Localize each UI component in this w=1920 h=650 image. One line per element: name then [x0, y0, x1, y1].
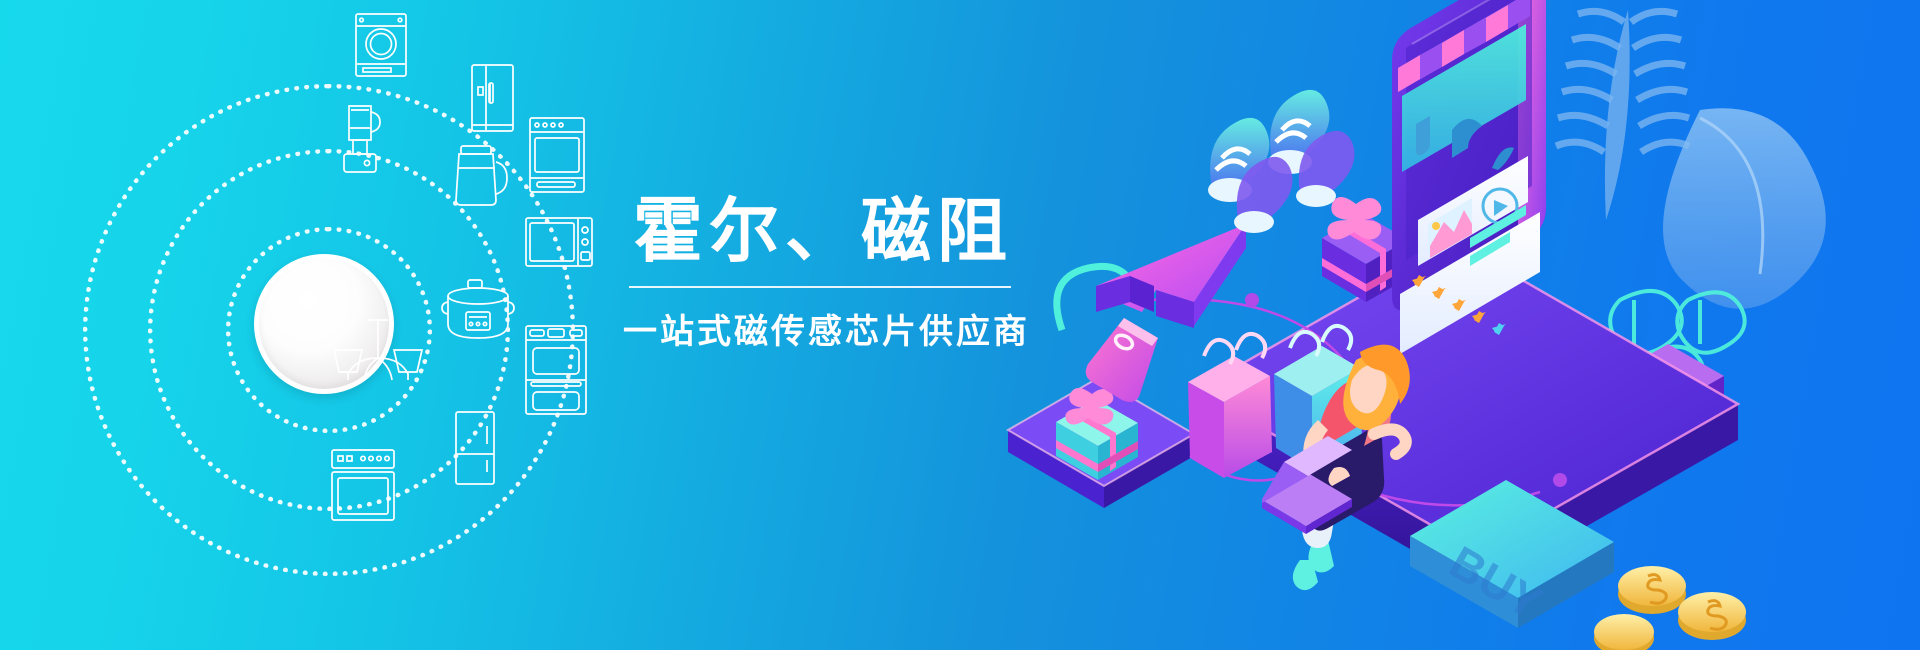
chandelier-icon [326, 318, 430, 394]
title-divider [629, 286, 1011, 288]
electric-kettle-icon [452, 140, 510, 212]
oven-range-icon [528, 116, 586, 194]
page-subtitle: 一站式磁传感芯片供应商 [620, 304, 1020, 353]
left-graphic [58, 0, 618, 650]
fridge-freezer-icon [454, 410, 496, 486]
rice-cooker-icon [440, 278, 516, 346]
blender-icon [342, 102, 384, 174]
page-title: 霍尔、磁阻 [620, 196, 1020, 266]
headline-block: 霍尔、磁阻 一站式磁传感芯片供应商 [620, 196, 1020, 353]
washing-machine-icon [354, 12, 408, 78]
refrigerator-side-by-side-icon [470, 63, 515, 133]
ecommerce-illustration: BUY [1000, 0, 1920, 650]
plant-leaves [1556, 10, 1826, 309]
microwave-oven-icon [524, 216, 594, 268]
double-oven-icon [524, 324, 588, 416]
promo-banner: 霍尔、磁阻 一站式磁传感芯片供应商 [0, 0, 1920, 650]
gas-stove-icon [330, 448, 396, 522]
